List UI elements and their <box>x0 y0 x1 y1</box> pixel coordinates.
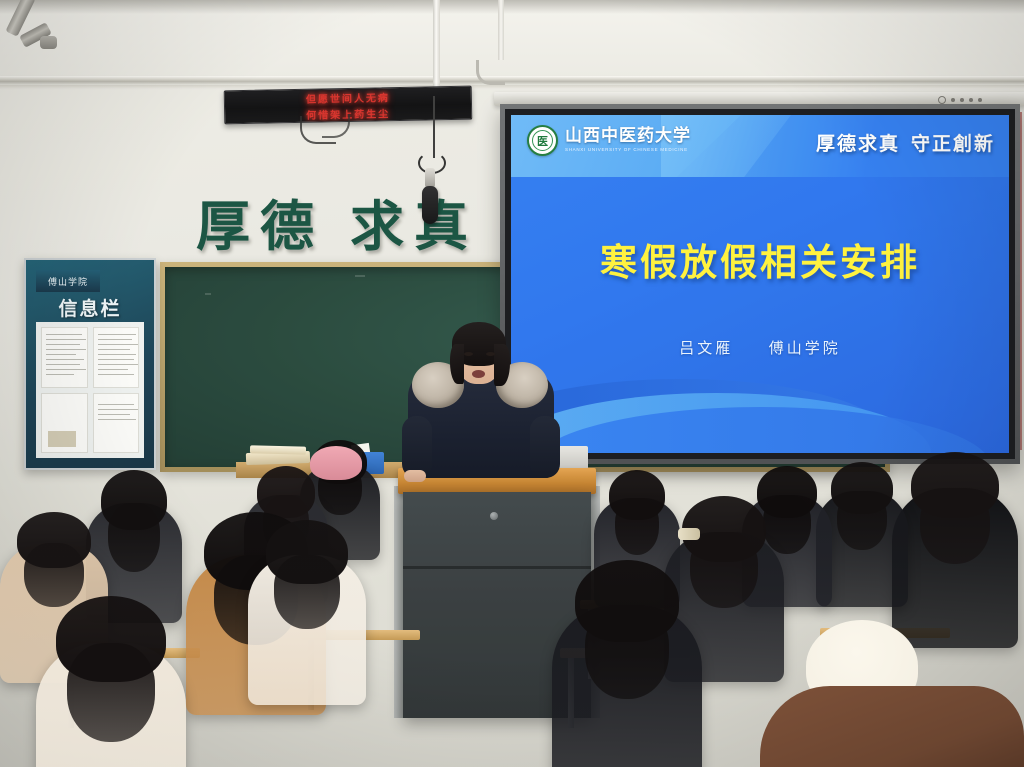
motto-char-1: 厚 <box>196 182 250 261</box>
microphone-wire <box>433 96 435 158</box>
down-button-icon[interactable] <box>969 98 973 102</box>
ceiling-shadow <box>0 0 1024 14</box>
slide-motto-part-1: 厚德求真 <box>816 129 900 156</box>
slide-presenter-line: 吕文雁 傅山学院 <box>511 337 1009 358</box>
menu-button-icon[interactable] <box>951 98 955 102</box>
information-board: 傅山学院 信息栏 <box>24 258 156 470</box>
wall-conduit <box>433 0 440 96</box>
motto-char-2: 德 <box>260 182 314 261</box>
presenter-arm-right <box>530 416 560 478</box>
student-hair-fall <box>67 643 155 742</box>
student-hair-fall <box>763 495 811 555</box>
slide-title: 寒假放假相关安排 <box>511 232 1009 286</box>
pink-cap <box>310 446 362 480</box>
source-button-icon[interactable] <box>978 98 982 102</box>
classroom-photo: 但愿世间人无病 何惜架上药生尘 厚 德 求 真 傅山学院 信息栏 <box>0 0 1024 767</box>
hair-clip-icon <box>678 528 700 540</box>
student-hair-fall <box>690 532 757 608</box>
hanging-microphone-icon <box>422 186 438 224</box>
podium-seam <box>403 566 591 569</box>
student-hair-fall <box>920 488 990 564</box>
bulletin-college-label: 傅山学院 <box>36 270 100 292</box>
presenter-mouth <box>472 370 485 378</box>
motto-char-3: 求 <box>350 182 404 261</box>
notice-sheet <box>41 393 88 454</box>
notice-sheet <box>93 393 140 454</box>
slide-motto-part-2: 守正創新 <box>911 129 995 156</box>
up-button-icon[interactable] <box>960 98 964 102</box>
microphone-mount <box>425 168 435 188</box>
power-button-icon[interactable] <box>938 96 946 104</box>
screen-control-buttons[interactable] <box>938 96 982 104</box>
university-seal-icon: 医 <box>527 125 558 156</box>
notice-sheet <box>41 327 88 388</box>
student-hair-fall <box>615 498 660 556</box>
presenter-eye-left <box>464 352 473 356</box>
wall-conduit-secondary <box>498 0 504 60</box>
notice-grid <box>36 322 144 458</box>
university-name-en: SHANXI UNIVERSITY OF CHINESE MEDICINE <box>565 148 691 153</box>
university-name-cn: 山西中医药大学 <box>565 128 691 145</box>
led-line-1: 但愿世间人无病 <box>306 89 390 106</box>
presenter-name: 吕文雁 <box>679 339 733 357</box>
brown-coat-student <box>760 686 1024 767</box>
display-bezel: 医 山西中医药大学 SHANXI UNIVERSITY OF CHINESE M… <box>505 109 1015 459</box>
podium-lock-icon <box>490 512 498 520</box>
slide-motto: 厚德求真 守正創新 <box>816 129 995 156</box>
presentation-slide: 医 山西中医药大学 SHANXI UNIVERSITY OF CHINESE M… <box>511 115 1009 453</box>
wall-trim-rail-lower <box>0 85 1024 89</box>
presenter-department: 傅山学院 <box>769 339 841 357</box>
student-hair-fall <box>274 555 340 629</box>
university-logo: 医 山西中医药大学 SHANXI UNIVERSITY OF CHINESE M… <box>527 125 691 156</box>
seal-char: 医 <box>537 133 548 149</box>
student-hair-fall <box>108 503 161 572</box>
pipe-cap-icon <box>40 36 57 49</box>
desk-papers <box>250 445 306 454</box>
projection-display: 医 山西中医药大学 SHANXI UNIVERSITY OF CHINESE M… <box>500 104 1020 464</box>
hanging-cable <box>476 60 505 85</box>
notice-seal <box>48 431 76 447</box>
student-hair-fall <box>24 543 83 607</box>
slide-footer-decoration <box>511 379 1009 453</box>
student-hair-fall <box>837 491 887 551</box>
student-hair-fall <box>585 605 668 699</box>
presenter-arm-left <box>402 416 432 478</box>
notice-sheet <box>93 327 140 388</box>
presenter-eye-right <box>486 352 495 356</box>
bulletin-title: 信息栏 <box>26 294 154 321</box>
presenter-hand <box>404 470 426 482</box>
wall-trim-rail <box>0 76 1024 85</box>
presenter-hair-left <box>450 344 464 384</box>
